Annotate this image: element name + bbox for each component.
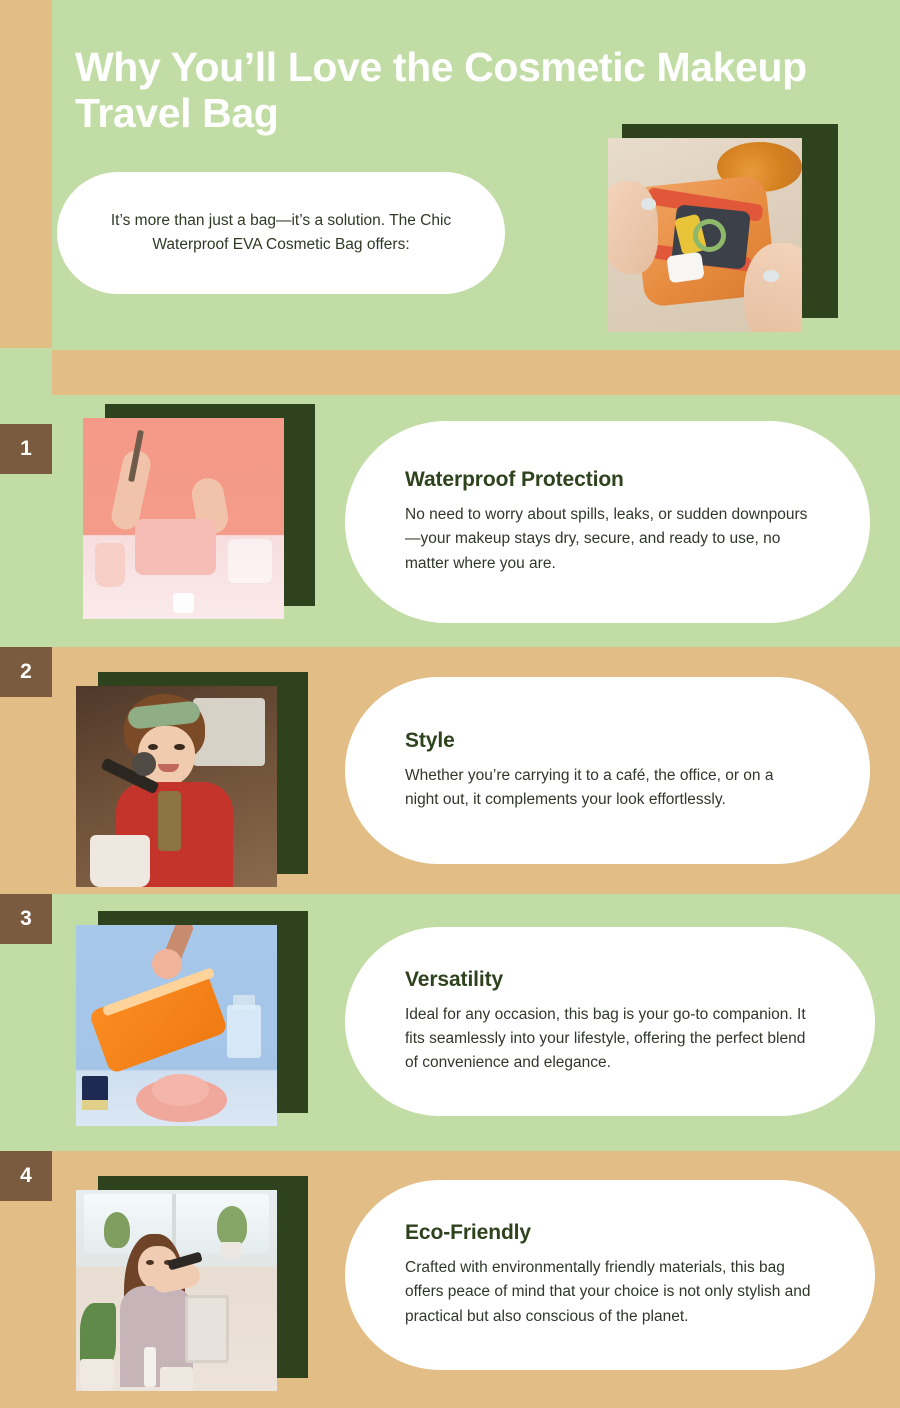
- feature-card-4: Eco-Friendly Crafted with environmentall…: [345, 1180, 875, 1370]
- feature-heading-4: Eco-Friendly: [405, 1221, 815, 1245]
- header-photo-container: [608, 124, 838, 332]
- feature-number-badge-2: 2: [0, 647, 52, 697]
- feature-heading-1: Waterproof Protection: [405, 468, 810, 492]
- feature-number-badge-4: 4: [0, 1151, 52, 1201]
- feature-body-4: Crafted with environmentally friendly ma…: [405, 1256, 815, 1329]
- feature-photo-container-1: [83, 404, 315, 619]
- intro-bubble: It’s more than just a bag—it’s a solutio…: [57, 172, 505, 294]
- feature-photo-3: [76, 925, 277, 1126]
- feature-row-4: 4 Eco-Friendly Crafted with environmenta…: [0, 1151, 900, 1408]
- feature-row-1: 1 Waterproof Protection No need to worry…: [0, 395, 900, 647]
- feature-card-3: Versatility Ideal for any occasion, this…: [345, 927, 875, 1116]
- feature-photo-container-2: [76, 672, 308, 887]
- feature-photo-2: [76, 686, 277, 887]
- header-section: Why You’ll Love the Cosmetic Makeup Trav…: [0, 0, 900, 348]
- feature-body-2: Whether you’re carrying it to a café, th…: [405, 764, 810, 813]
- feature-row-3: 3 Versatility Ideal for any occasion, th…: [0, 894, 900, 1151]
- feature-card-1: Waterproof Protection No need to worry a…: [345, 421, 870, 623]
- header-photo: [608, 138, 802, 332]
- feature-number-badge-3: 3: [0, 894, 52, 944]
- feature-heading-2: Style: [405, 729, 810, 753]
- feature-number-badge-1: 1: [0, 424, 52, 474]
- feature-row-2: 2 Style Whether you’re carrying it to a …: [0, 647, 900, 894]
- feature-body-3: Ideal for any occasion, this bag is your…: [405, 1003, 815, 1076]
- feature-photo-1: [83, 418, 284, 619]
- header-left-accent-strip: [0, 0, 52, 348]
- intro-text: It’s more than just a bag—it’s a solutio…: [91, 209, 471, 256]
- feature-photo-container-4: [76, 1176, 308, 1391]
- feature-photo-4: [76, 1190, 277, 1391]
- feature-heading-3: Versatility: [405, 968, 815, 992]
- feature-card-2: Style Whether you’re carrying it to a ca…: [345, 677, 870, 864]
- feature-photo-container-3: [76, 911, 308, 1126]
- feature-body-1: No need to worry about spills, leaks, or…: [405, 503, 810, 576]
- header-divider-bar: [52, 350, 900, 395]
